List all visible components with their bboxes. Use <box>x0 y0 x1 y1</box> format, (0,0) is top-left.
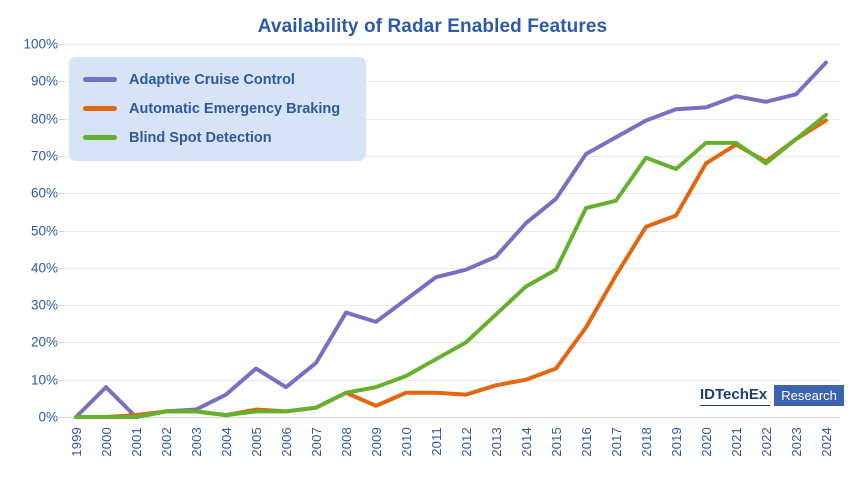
gridline <box>62 44 840 45</box>
x-axis-tick-label: 1999 <box>69 427 84 457</box>
x-axis: 1999200020012002200320042005200620072008… <box>0 421 865 487</box>
gridline <box>62 305 840 306</box>
y-axis-tick-mark <box>56 119 64 120</box>
y-axis-tick-label: 90% <box>6 74 58 89</box>
y-axis-tick-mark <box>56 417 64 418</box>
y-axis-tick-mark <box>56 380 64 381</box>
y-axis-tick-label: 70% <box>6 148 58 163</box>
y-axis-tick-mark <box>56 81 64 82</box>
x-axis-tick-label: 2012 <box>459 427 474 457</box>
x-axis-tick-label: 2008 <box>339 427 354 457</box>
x-axis-tick-label: 2014 <box>519 427 534 457</box>
y-axis-tick-label: 20% <box>6 335 58 350</box>
y-axis-tick-mark <box>56 156 64 157</box>
y-axis-tick-label: 100% <box>6 37 58 52</box>
y-axis-tick-mark <box>56 268 64 269</box>
y-axis-tick-mark <box>56 342 64 343</box>
legend-item-label: Blind Spot Detection <box>129 130 272 146</box>
idtechex-logo: IDTechEx Research <box>700 385 844 406</box>
legend-item[interactable]: Adaptive Cruise Control <box>83 65 352 94</box>
y-axis-tick-mark <box>56 305 64 306</box>
y-axis-tick-label: 60% <box>6 186 58 201</box>
y-axis-tick-label: 30% <box>6 298 58 313</box>
y-axis: 100%90%80%70%60%50%40%30%20%10%0% <box>0 0 58 487</box>
y-axis-tick-mark <box>56 231 64 232</box>
gridline <box>62 193 840 194</box>
x-axis-tick-label: 2016 <box>579 427 594 457</box>
x-axis-tick-label: 2000 <box>99 427 114 457</box>
x-axis-tick-label: 2006 <box>279 427 294 457</box>
legend-color-swatch <box>83 135 117 140</box>
x-axis-baseline <box>62 417 840 418</box>
legend-color-swatch <box>83 106 117 111</box>
x-axis-tick-label: 2024 <box>819 427 834 457</box>
x-axis-tick-label: 2015 <box>549 427 564 457</box>
y-axis-tick-mark <box>56 44 64 45</box>
brand-name: IDTechEx <box>700 385 770 406</box>
y-axis-tick-label: 10% <box>6 372 58 387</box>
x-axis-tick-label: 2001 <box>129 427 144 457</box>
x-axis-tick-label: 2002 <box>159 427 174 457</box>
chart-legend: Adaptive Cruise ControlAutomatic Emergen… <box>69 57 366 161</box>
y-axis-tick-mark <box>56 193 64 194</box>
gridline <box>62 268 840 269</box>
legend-color-swatch <box>83 77 117 82</box>
brand-badge: Research <box>774 385 844 406</box>
x-axis-tick-label: 2018 <box>639 427 654 457</box>
x-axis-tick-label: 2020 <box>699 427 714 457</box>
gridline <box>62 231 840 232</box>
x-axis-tick-label: 2021 <box>729 427 744 457</box>
x-axis-tick-label: 2019 <box>669 427 684 457</box>
gridline <box>62 342 840 343</box>
legend-item-label: Automatic Emergency Braking <box>129 101 340 117</box>
x-axis-tick-label: 2022 <box>759 427 774 457</box>
x-axis-tick-label: 2003 <box>189 427 204 457</box>
y-axis-tick-label: 80% <box>6 111 58 126</box>
y-axis-tick-label: 40% <box>6 260 58 275</box>
x-axis-tick-label: 2007 <box>309 427 324 457</box>
x-axis-tick-label: 2004 <box>219 427 234 457</box>
x-axis-tick-label: 2017 <box>609 427 624 457</box>
legend-item-label: Adaptive Cruise Control <box>129 72 295 88</box>
x-axis-tick-label: 2005 <box>249 427 264 457</box>
gridline <box>62 380 840 381</box>
legend-item[interactable]: Automatic Emergency Braking <box>83 94 352 123</box>
chart-title: Availability of Radar Enabled Features <box>0 16 865 38</box>
legend-item[interactable]: Blind Spot Detection <box>83 123 352 152</box>
y-axis-tick-label: 50% <box>6 223 58 238</box>
x-axis-tick-label: 2009 <box>369 427 384 457</box>
chart-container: Availability of Radar Enabled Features 1… <box>0 0 865 487</box>
x-axis-tick-label: 2011 <box>429 427 444 456</box>
x-axis-tick-label: 2013 <box>489 427 504 457</box>
x-axis-tick-label: 2010 <box>399 427 414 457</box>
x-axis-tick-label: 2023 <box>789 427 804 457</box>
